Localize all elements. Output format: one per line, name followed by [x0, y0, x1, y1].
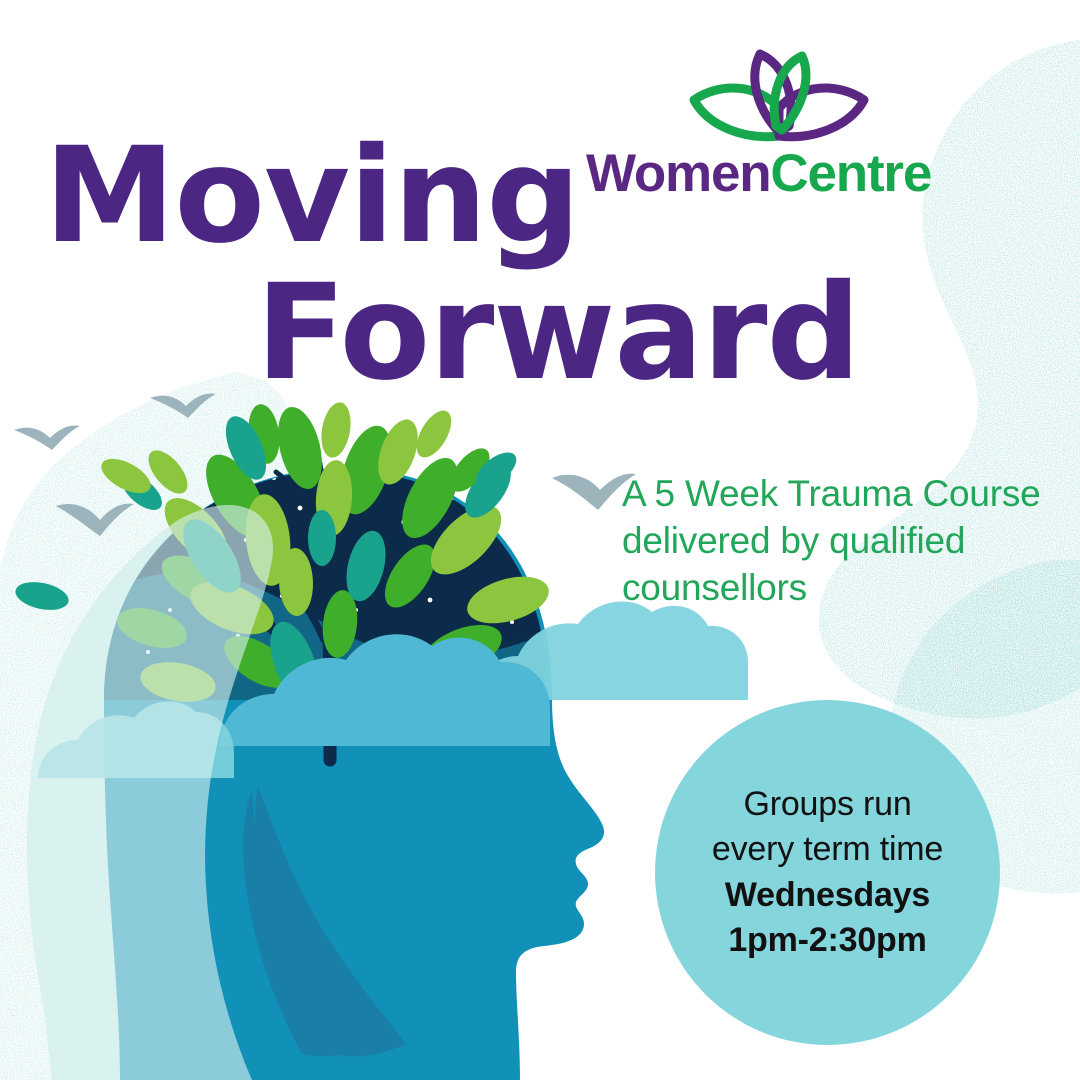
schedule-day: Wednesdays [725, 873, 930, 918]
schedule-line-1: Groups run [743, 782, 911, 827]
headline-line-1: Moving [44, 128, 874, 265]
headline-line-2: Forward [44, 265, 874, 402]
schedule-line-2: every term time [712, 827, 943, 872]
course-description: A 5 Week Trauma Course delivered by qual… [622, 471, 1052, 612]
page-title: Moving Forward [44, 128, 874, 403]
schedule-time: 1pm-2:30pm [728, 918, 926, 963]
bird-icon [14, 426, 80, 451]
poster-canvas: WomenCentre Moving Forward A 5 Week Trau… [0, 0, 1080, 1080]
bird-icon [56, 504, 134, 536]
schedule-badge: Groups run every term time Wednesdays 1p… [655, 700, 1000, 1045]
